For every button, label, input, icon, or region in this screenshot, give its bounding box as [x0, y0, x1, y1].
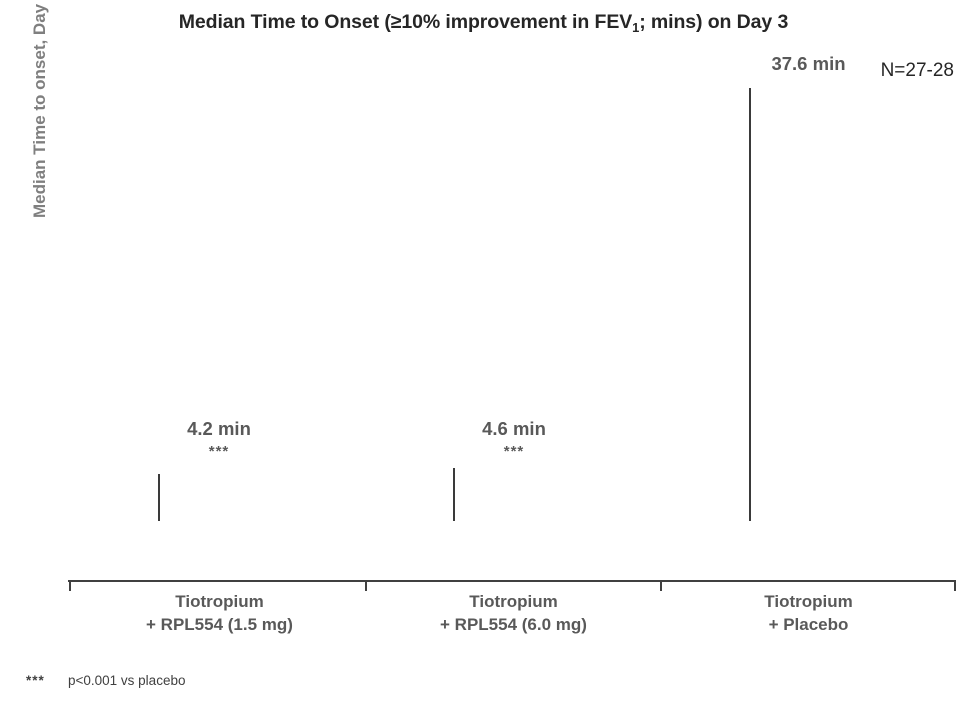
sample-size-label: N=27-28	[881, 60, 954, 82]
x-axis-tick-end	[954, 582, 956, 591]
bar-significance-1: ***	[158, 443, 280, 460]
chart-container: Median Time to Onset (≥10% improvement i…	[0, 0, 967, 703]
x-axis-tick-start	[69, 582, 71, 591]
bar-tiotropium-rpl554-1-5mg[interactable]	[158, 474, 160, 521]
footnote-marker: ***	[26, 673, 45, 688]
bar-tiotropium-placebo[interactable]	[749, 88, 751, 521]
bar-tiotropium-rpl554-6-0mg[interactable]	[453, 468, 455, 521]
category-label-3-line2: + Placebo	[696, 613, 921, 636]
x-axis-tick-2	[660, 582, 662, 591]
category-label-2: Tiotropium + RPL554 (6.0 mg)	[401, 590, 626, 636]
category-label-1-line2: + RPL554 (1.5 mg)	[107, 613, 332, 636]
x-axis-tick-1	[365, 582, 367, 591]
category-label-3-line1: Tiotropium	[696, 590, 921, 613]
bar-value-label-2: 4.6 min	[453, 418, 575, 440]
category-label-1-line1: Tiotropium	[107, 590, 332, 613]
category-label-1: Tiotropium + RPL554 (1.5 mg)	[107, 590, 332, 636]
bar-group-2: 4.6 min ***	[453, 0, 575, 521]
x-axis-line	[68, 580, 956, 582]
category-label-3: Tiotropium + Placebo	[696, 590, 921, 636]
footnote-text: p<0.001 vs placebo	[68, 673, 185, 688]
y-axis-title: Median Time to onset, Day 3 (min)	[22, 0, 58, 218]
chart-title-subscript: 1	[632, 20, 639, 35]
bar-group-1: 4.2 min ***	[158, 0, 280, 521]
bar-value-label-3: 37.6 min	[749, 53, 868, 75]
category-label-2-line1: Tiotropium	[401, 590, 626, 613]
category-label-2-line2: + RPL554 (6.0 mg)	[401, 613, 626, 636]
bar-significance-2: ***	[453, 443, 575, 460]
bar-group-3: 37.6 min	[749, 0, 868, 521]
bar-value-label-1: 4.2 min	[158, 418, 280, 440]
